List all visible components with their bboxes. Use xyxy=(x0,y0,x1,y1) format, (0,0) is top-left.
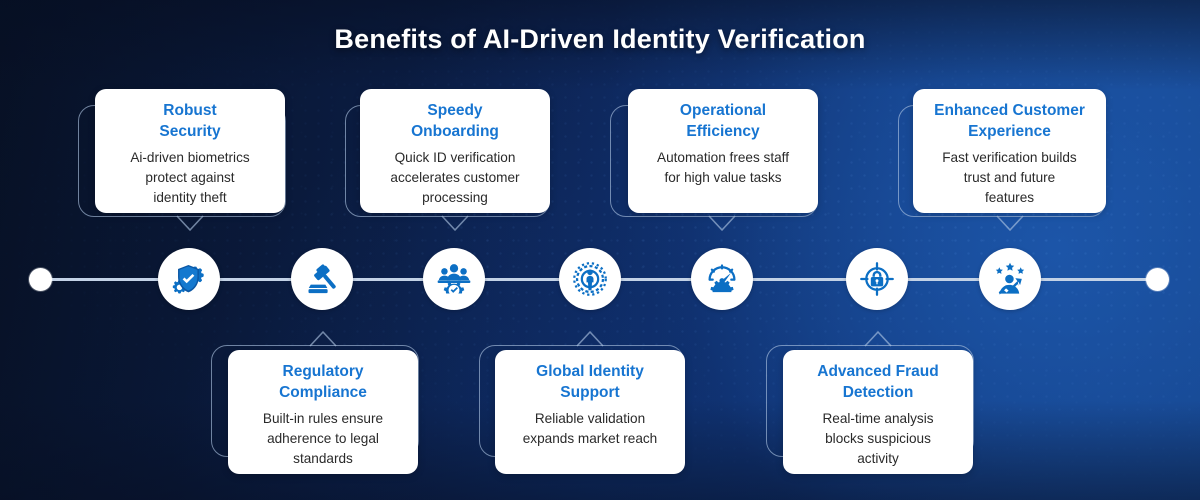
card-description: Quick ID verification accelerates custom… xyxy=(373,148,537,208)
card-regulatory-compliance[interactable]: Regulatory Compliance Built-in rules ens… xyxy=(228,350,418,474)
card-description: Real-time analysis blocks suspicious act… xyxy=(796,409,960,469)
card-title: Regulatory Compliance xyxy=(241,362,405,403)
card-title: Global Identity Support xyxy=(508,362,672,403)
timeline-end-dot xyxy=(1146,268,1169,291)
card-enhanced-customer-experience[interactable]: Enhanced Customer Experience Fast verifi… xyxy=(913,89,1106,213)
gavel-icon xyxy=(304,261,340,297)
pointer-global-identity-support xyxy=(577,330,603,346)
card-title: Operational Efficiency xyxy=(641,101,805,142)
card-description: Automation frees staff for high value ta… xyxy=(641,148,805,188)
node-operational-efficiency[interactable] xyxy=(691,248,753,310)
node-speedy-onboarding[interactable] xyxy=(423,248,485,310)
card-global-identity-support[interactable]: Global Identity Support Reliable validat… xyxy=(495,350,685,474)
card-description: Ai-driven biometrics protect against ide… xyxy=(108,148,272,208)
pointer-enhanced-customer-experience xyxy=(997,216,1023,232)
card-description: Fast verification builds trust and futur… xyxy=(926,148,1093,208)
person-in-gear-icon xyxy=(572,261,608,297)
node-advanced-fraud-detection[interactable] xyxy=(846,248,908,310)
person-stars-growth-icon xyxy=(992,261,1028,297)
pointer-speedy-onboarding xyxy=(442,216,468,232)
card-title: Advanced Fraud Detection xyxy=(796,362,960,403)
card-description: Built-in rules ensure adherence to legal… xyxy=(241,409,405,469)
shield-check-gear-icon xyxy=(171,261,207,297)
infographic-canvas: Benefits of AI-Driven Identity Verificat… xyxy=(0,0,1200,500)
card-speedy-onboarding[interactable]: Speedy Onboarding Quick ID verification … xyxy=(360,89,550,213)
pointer-regulatory-compliance xyxy=(310,330,336,346)
card-description: Reliable validation expands market reach xyxy=(508,409,672,449)
node-enhanced-customer-experience[interactable] xyxy=(979,248,1041,310)
pointer-operational-efficiency xyxy=(709,216,735,232)
card-advanced-fraud-detection[interactable]: Advanced Fraud Detection Real-time analy… xyxy=(783,350,973,474)
timeline-start-dot xyxy=(29,268,52,291)
page-title: Benefits of AI-Driven Identity Verificat… xyxy=(0,24,1200,55)
people-gear-check-icon xyxy=(436,261,472,297)
card-operational-efficiency[interactable]: Operational Efficiency Automation frees … xyxy=(628,89,818,213)
lock-crosshair-icon xyxy=(859,261,895,297)
card-title: Enhanced Customer Experience xyxy=(926,101,1093,142)
node-robust-security[interactable] xyxy=(158,248,220,310)
node-global-identity-support[interactable] xyxy=(559,248,621,310)
pointer-advanced-fraud-detection xyxy=(865,330,891,346)
pointer-robust-security xyxy=(177,216,203,232)
card-title: Speedy Onboarding xyxy=(373,101,537,142)
speedometer-gear-icon xyxy=(704,261,740,297)
card-robust-security[interactable]: Robust Security Ai-driven biometrics pro… xyxy=(95,89,285,213)
node-regulatory-compliance[interactable] xyxy=(291,248,353,310)
card-title: Robust Security xyxy=(108,101,272,142)
